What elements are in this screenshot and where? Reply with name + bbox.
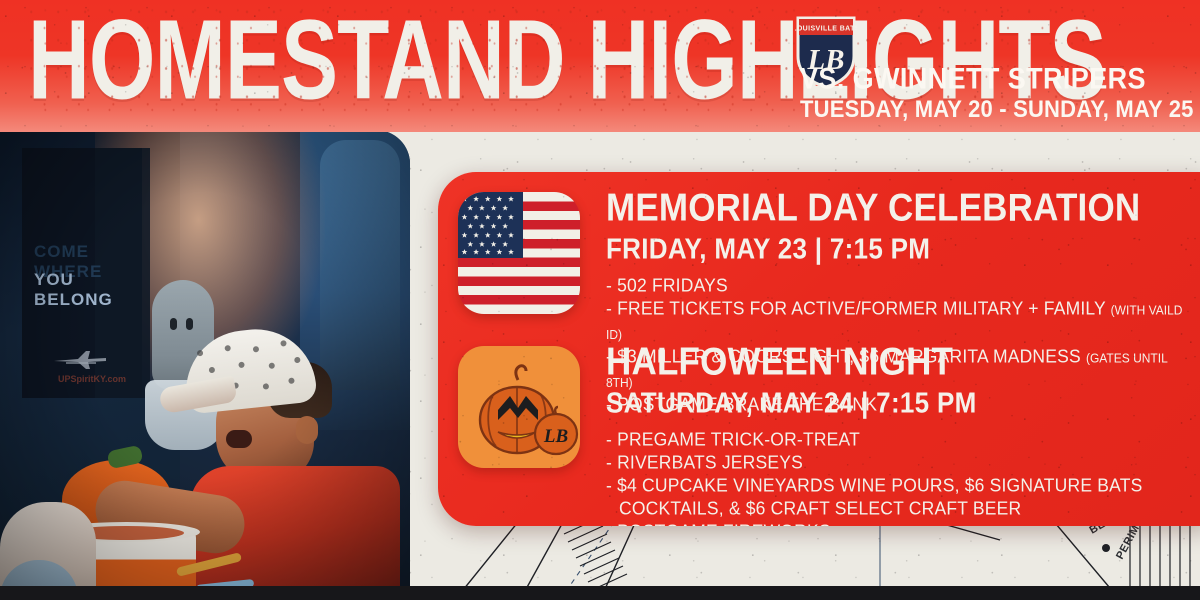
photo-airplane-graphic — [52, 348, 110, 370]
list-item: - 502 FRIDAYS — [606, 274, 1196, 297]
photo-plush-eye-left — [170, 318, 177, 330]
photo-background-person — [320, 140, 400, 390]
list-item: - PREGAME TRICK-OR-TREAT — [606, 428, 1196, 451]
event-datetime: FRIDAY, MAY 23 | 7:15 PM — [606, 233, 1196, 264]
event-body: HALFOWEEN NIGHT SATURDAY, MAY 24 | 7:15 … — [606, 342, 1196, 526]
bottom-strip — [0, 586, 1200, 600]
homestand-highlights-poster: BELOW PERIMETER HOMESTAND HIGHLIGHTS LOU… — [0, 0, 1200, 600]
event-datetime: SATURDAY, MAY 24 | 7:15 PM — [606, 387, 1196, 418]
logo-wordmark: LOUISVILLE BATS — [795, 26, 857, 33]
photo-banner-text: YOU BELONG — [34, 270, 154, 310]
svg-text:LB: LB — [543, 426, 568, 447]
halloween-event-photo: COME WHERE YOU BELONG UPSpiritKY.com — [0, 130, 410, 586]
list-item: - POSTGAME FIREWORKS — [606, 520, 1196, 526]
photo-banner-url: UPSpiritKY.com — [58, 374, 126, 384]
flag-stars — [458, 192, 523, 258]
bullet-text: - 502 FRIDAYS — [606, 274, 728, 296]
event-bullet-list: - PREGAME TRICK-OR-TREAT - RIVERBATS JER… — [606, 428, 1196, 526]
date-range-line: TUESDAY, MAY 20 - SUNDAY, MAY 25 — [800, 95, 1194, 124]
matchup-info: VS. GWINNETT STRIPERS TUESDAY, MAY 20 - … — [800, 63, 1194, 121]
usa-flag-icon — [458, 192, 580, 314]
event-title: HALFOWEEN NIGHT — [606, 342, 1196, 382]
jack-o-lantern-icon: LB — [458, 346, 580, 468]
list-item: - $4 CUPCAKE VINEYARDS WINE POURS, $6 SI… — [606, 474, 1196, 497]
list-item: - RIVERBATS JERSEYS — [606, 451, 1196, 474]
list-item: COCKTAILS, & $6 CRAFT SELECT CRAFT BEER — [606, 497, 1196, 520]
bullet-text: - PREGAME TRICK-OR-TREAT — [606, 428, 860, 450]
header-banner: HOMESTAND HIGHLIGHTS LOUISVILLE BATS LB … — [0, 0, 1200, 132]
pumpkin-illustration: LB — [458, 346, 580, 468]
opponent-line: VS. GWINNETT STRIPERS — [800, 63, 1194, 95]
bullet-text: - RIVERBATS JERSEYS — [606, 451, 803, 473]
bullet-text: - FREE TICKETS FOR ACTIVE/FORMER MILITAR… — [606, 297, 1106, 319]
bullet-text: - POSTGAME FIREWORKS — [606, 520, 831, 526]
event-title: MEMORIAL DAY CELEBRATION — [606, 188, 1196, 228]
bullet-text: - $4 CUPCAKE VINEYARDS WINE POURS, $6 SI… — [606, 474, 1143, 496]
photo-plush-eye-right — [186, 318, 193, 330]
photo-child-ear — [296, 416, 318, 444]
bullet-text: COCKTAILS, & $6 CRAFT SELECT CRAFT BEER — [619, 497, 1021, 519]
events-card: MEMORIAL DAY CELEBRATION FRIDAY, MAY 23 … — [438, 172, 1200, 526]
photo-child-mouth — [226, 430, 252, 448]
